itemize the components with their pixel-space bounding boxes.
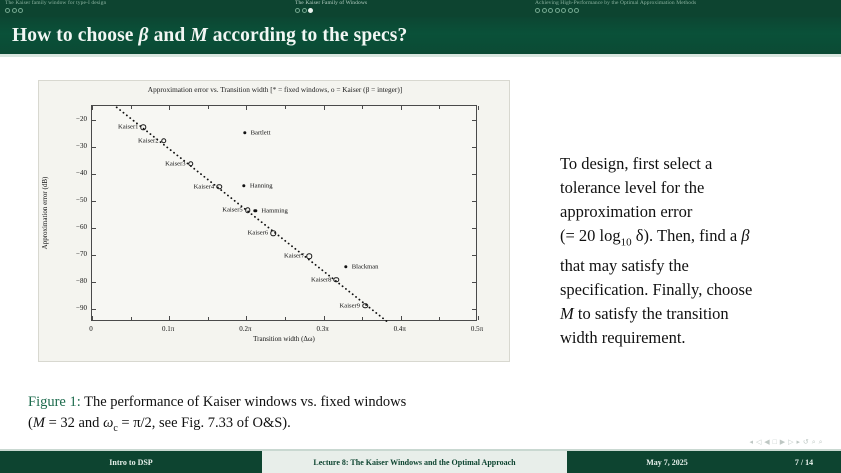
- chart-xtick-minor: [439, 106, 440, 109]
- chart-xtick: [169, 316, 170, 320]
- chart-xaxis-label: Transition width (Δω): [91, 335, 477, 343]
- chart-ytick: [472, 309, 476, 310]
- chart-ytick: [472, 147, 476, 148]
- chart-yaxis-label: Approximation error (dB): [41, 177, 49, 250]
- chart-ytick: [92, 255, 96, 256]
- nav-section-1-dots[interactable]: [4, 7, 290, 13]
- footer-lecture-title: Lecture 8: The Kaiser Windows and the Op…: [262, 451, 567, 473]
- page-title-post: according to the specs?: [208, 25, 408, 46]
- chart-xtick-label: 0.1π: [162, 325, 174, 333]
- chart-xtick-label: 0.4π: [394, 325, 406, 333]
- kaiser-marker: [216, 184, 222, 190]
- explanation-m: M: [560, 304, 574, 323]
- chart-ytick-label: −40: [67, 169, 87, 177]
- chart-xtick-label: 0.2π: [239, 325, 251, 333]
- chart-point-label: Blackman: [352, 264, 379, 271]
- chart-ytick: [472, 201, 476, 202]
- figure-caption: Figure 1: The performance of Kaiser wind…: [28, 392, 548, 439]
- chart-xtick-minor: [285, 106, 286, 109]
- chart-xtick-minor: [362, 317, 363, 320]
- chart-xtick-minor: [131, 317, 132, 320]
- nav-section-3[interactable]: Achieving High-Performance by the Optima…: [530, 0, 841, 17]
- chart-xtick-minor: [285, 317, 286, 320]
- nav-section-3-title: Achieving High-Performance by the Optima…: [534, 0, 841, 7]
- chart-point-label: Hamming: [261, 207, 287, 214]
- navigation-glyphs-icon[interactable]: ◂ ◁ ◀ □ ▶ ▷ ▸ ↺ ⌕ ⌕: [750, 438, 824, 447]
- chart-ytick: [472, 120, 476, 121]
- kaiser-marker: [334, 277, 340, 283]
- figure-caption-m: M: [33, 415, 45, 431]
- chart-xtick: [401, 316, 402, 320]
- nav-dot[interactable]: [18, 8, 23, 13]
- chart-xtick: [324, 316, 325, 320]
- title-underline: [0, 54, 841, 57]
- explanation-line-7-post: to satisfy the transition: [574, 304, 729, 323]
- nav-dot[interactable]: [5, 8, 10, 13]
- figure-caption-head: Figure 1:: [28, 394, 81, 410]
- chart-ytick: [472, 282, 476, 283]
- beamer-navigation-bar: The Kaiser family window for type-I desi…: [0, 0, 841, 17]
- chart-ytick: [92, 201, 96, 202]
- chart-xtick-label: 0: [89, 325, 93, 333]
- chart-xtick: [478, 106, 479, 110]
- slide-footer: Intro to DSP Lecture 8: The Kaiser Windo…: [0, 451, 841, 473]
- explanation-line-6: specification. Finally, choose: [560, 280, 752, 299]
- chart-xtick: [401, 106, 402, 110]
- explanation-paragraph: To design, first select a tolerance leve…: [560, 152, 832, 350]
- chart-ytick-label: −20: [67, 115, 87, 123]
- explanation-line-4-delta: δ). Then, find a: [632, 226, 742, 245]
- page-title: How to choose β and M according to the s…: [0, 25, 407, 47]
- chart-ytick-label: −70: [67, 250, 87, 258]
- chart-ytick-label: −60: [67, 223, 87, 231]
- figure-caption-line-2-mid: = 32 and: [45, 415, 103, 431]
- nav-dot[interactable]: [561, 8, 566, 13]
- nav-dot[interactable]: [568, 8, 573, 13]
- chart-xtick: [478, 316, 479, 320]
- chart-xtick: [92, 106, 93, 110]
- footer-page-number: 7 / 14: [767, 451, 841, 473]
- footer-author: Intro to DSP: [0, 451, 262, 473]
- explanation-line-3: approximation error: [560, 202, 692, 221]
- chart-point-label: Kaiser5: [222, 207, 243, 214]
- chart-ytick: [92, 309, 96, 310]
- figure-caption-omega: ω: [103, 415, 113, 431]
- kaiser-marker: [307, 253, 313, 259]
- chart-point-label: Kaiser7: [284, 253, 305, 260]
- figure-image: Approximation error vs. Transition width…: [38, 80, 510, 362]
- chart-point-label: Kaiser9: [340, 302, 361, 309]
- explanation-line-2: tolerance level for the: [560, 178, 704, 197]
- chart-point-label: Hanning: [250, 183, 273, 190]
- chart-ytick: [472, 174, 476, 175]
- nav-section-2-title: The Kaiser Family of Windows: [294, 0, 530, 7]
- figure-caption-line-1: The performance of Kaiser windows vs. fi…: [81, 394, 407, 410]
- chart-xtick-minor: [208, 106, 209, 109]
- slide: The Kaiser family window for type-I desi…: [0, 0, 841, 473]
- chart-title: Approximation error vs. Transition width…: [39, 85, 511, 94]
- figure-caption-line-2-post: = π/2, see Fig. 7.33 of O&S).: [118, 415, 291, 431]
- nav-section-2-dots[interactable]: [294, 7, 530, 13]
- chart-xtick-minor: [362, 106, 363, 109]
- nav-dot[interactable]: [555, 8, 560, 13]
- chart-xtick-minor: [439, 317, 440, 320]
- kaiser-marker: [362, 303, 368, 309]
- page-title-mid: and: [149, 25, 191, 46]
- nav-section-3-dots[interactable]: [534, 7, 841, 13]
- kaiser-marker: [161, 138, 167, 144]
- nav-section-2[interactable]: The Kaiser Family of Windows: [290, 0, 530, 17]
- chart-point-label: Kaiser8: [311, 276, 332, 283]
- chart-xtick-minor: [131, 106, 132, 109]
- nav-dot[interactable]: [548, 8, 553, 13]
- nav-dot-active[interactable]: [308, 8, 313, 13]
- chart-xtick: [92, 316, 93, 320]
- chart-xtick: [246, 106, 247, 110]
- nav-dot[interactable]: [302, 8, 307, 13]
- chart-xtick: [324, 106, 325, 110]
- chart-ytick: [92, 147, 96, 148]
- chart-ytick: [472, 228, 476, 229]
- chart-point-label: Kaiser3: [165, 160, 186, 167]
- kaiser-marker: [245, 208, 251, 214]
- page-title-m: M: [190, 25, 207, 46]
- nav-dot[interactable]: [12, 8, 17, 13]
- kaiser-marker: [141, 124, 147, 130]
- nav-section-1-title: The Kaiser family window for type-I desi…: [4, 0, 290, 7]
- explanation-line-4-pre: (= 20 log: [560, 226, 621, 245]
- nav-section-1[interactable]: The Kaiser family window for type-I desi…: [0, 0, 290, 17]
- chart-ytick: [472, 255, 476, 256]
- chart-ytick: [92, 228, 96, 229]
- kaiser-marker: [270, 231, 276, 237]
- nav-dot[interactable]: [542, 8, 547, 13]
- page-title-beta: β: [139, 25, 149, 46]
- nav-dot[interactable]: [574, 8, 579, 13]
- kaiser-marker: [188, 161, 194, 167]
- explanation-line-5: that may satisfy the: [560, 256, 689, 275]
- chart-xtick-label: 0.5π: [471, 325, 483, 333]
- explanation-log-base: 10: [621, 236, 632, 248]
- chart-ytick-label: −80: [67, 277, 87, 285]
- page-title-pre: How to choose: [12, 25, 139, 46]
- nav-dot[interactable]: [295, 8, 300, 13]
- beamer-nav-icons[interactable]: ◂ ◁ ◀ □ ▶ ▷ ▸ ↺ ⌕ ⌕: [750, 438, 824, 447]
- chart-point-label: Kaiser4: [194, 183, 215, 190]
- chart-ytick: [92, 174, 96, 175]
- chart-xtick: [246, 316, 247, 320]
- explanation-line-8: width requirement.: [560, 328, 686, 347]
- chart-ytick: [92, 120, 96, 121]
- footer-date: May 7, 2025: [567, 451, 767, 473]
- chart-ytick-label: −30: [67, 142, 87, 150]
- explanation-line-1: To design, first select a: [560, 154, 712, 173]
- chart-ytick-label: −50: [67, 196, 87, 204]
- chart-xtick: [169, 106, 170, 110]
- nav-dot[interactable]: [535, 8, 540, 13]
- chart-point-label: Kaiser1: [118, 124, 139, 131]
- chart-xtick-minor: [208, 317, 209, 320]
- chart-ytick-label: −90: [67, 304, 87, 312]
- chart-xtick-label: 0.3π: [316, 325, 328, 333]
- slide-title-bar: How to choose β and M according to the s…: [0, 17, 841, 54]
- chart-point-label: Kaiser2: [138, 137, 159, 144]
- explanation-beta: β: [741, 226, 749, 245]
- chart-point-label: Bartlett: [251, 129, 271, 136]
- chart-point-label: Kaiser6: [248, 230, 269, 237]
- chart-ytick: [92, 282, 96, 283]
